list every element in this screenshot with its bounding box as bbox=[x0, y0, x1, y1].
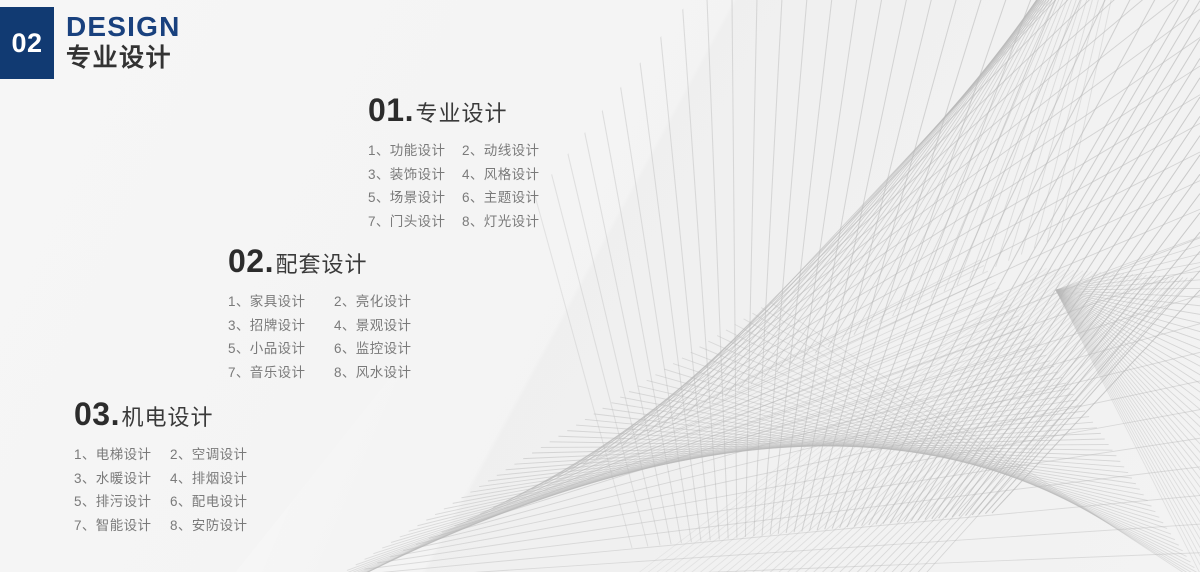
list-item: 1、家具设计 bbox=[228, 290, 334, 314]
list-item: 8、风水设计 bbox=[334, 361, 411, 385]
slide-header: 02 DESIGN 专业设计 bbox=[0, 7, 181, 79]
list-item: 4、景观设计 bbox=[334, 314, 411, 338]
list-item: 5、小品设计 bbox=[228, 337, 334, 361]
list-item: 6、监控设计 bbox=[334, 337, 411, 361]
list-item: 7、门头设计 bbox=[368, 210, 462, 234]
list-item: 5、场景设计 bbox=[368, 186, 462, 210]
list-item-row: 7、门头设计8、灯光设计 bbox=[368, 210, 539, 234]
section-03-name: 机电设计 bbox=[121, 400, 213, 432]
section-01-heading: 01 . 专业设计 bbox=[368, 92, 539, 129]
section-03-heading: 03 . 机电设计 bbox=[74, 396, 247, 433]
section-02-heading: 02 . 配套设计 bbox=[228, 243, 411, 280]
list-item: 7、音乐设计 bbox=[228, 361, 334, 385]
list-item-row: 3、装饰设计4、风格设计 bbox=[368, 163, 539, 187]
list-item: 6、配电设计 bbox=[170, 490, 247, 514]
list-item: 2、动线设计 bbox=[462, 139, 539, 163]
list-item: 4、风格设计 bbox=[462, 163, 539, 187]
section-03: 03 . 机电设计 1、电梯设计2、空调设计 3、水暖设计4、排烟设计 5、排污… bbox=[74, 396, 247, 538]
list-item: 8、安防设计 bbox=[170, 514, 247, 538]
section-03-number: 03 bbox=[74, 396, 111, 433]
list-item: 6、主题设计 bbox=[462, 186, 539, 210]
list-item: 3、招牌设计 bbox=[228, 314, 334, 338]
list-item: 3、水暖设计 bbox=[74, 467, 170, 491]
list-item: 5、排污设计 bbox=[74, 490, 170, 514]
page-title-en: DESIGN bbox=[66, 13, 181, 41]
section-01-item-list: 1、功能设计2、动线设计 3、装饰设计4、风格设计 5、场景设计6、主题设计 7… bbox=[368, 139, 539, 234]
section-02: 02 . 配套设计 1、家具设计2、亮化设计 3、招牌设计4、景观设计 5、小品… bbox=[228, 243, 411, 385]
section-badge-number: 02 bbox=[11, 28, 42, 59]
header-titles: DESIGN 专业设计 bbox=[66, 7, 181, 73]
section-03-separator: . bbox=[111, 396, 120, 433]
list-item: 3、装饰设计 bbox=[368, 163, 462, 187]
list-item-row: 1、家具设计2、亮化设计 bbox=[228, 290, 411, 314]
section-02-separator: . bbox=[265, 243, 274, 280]
section-badge: 02 bbox=[0, 7, 54, 79]
list-item: 1、功能设计 bbox=[368, 139, 462, 163]
section-01-name: 专业设计 bbox=[415, 96, 507, 128]
section-01-number: 01 bbox=[368, 92, 405, 129]
section-03-item-list: 1、电梯设计2、空调设计 3、水暖设计4、排烟设计 5、排污设计6、配电设计 7… bbox=[74, 443, 247, 538]
list-item: 2、亮化设计 bbox=[334, 290, 411, 314]
list-item: 7、智能设计 bbox=[74, 514, 170, 538]
page-title-cn: 专业设计 bbox=[66, 44, 181, 73]
section-01-separator: . bbox=[405, 92, 414, 129]
list-item-row: 3、水暖设计4、排烟设计 bbox=[74, 467, 247, 491]
section-02-name: 配套设计 bbox=[275, 247, 367, 279]
slide-canvas: 02 DESIGN 专业设计 01 . 专业设计 1、功能设计2、动线设计 3、… bbox=[0, 0, 1200, 572]
list-item: 8、灯光设计 bbox=[462, 210, 539, 234]
section-02-item-list: 1、家具设计2、亮化设计 3、招牌设计4、景观设计 5、小品设计6、监控设计 7… bbox=[228, 290, 411, 385]
list-item-row: 5、小品设计6、监控设计 bbox=[228, 337, 411, 361]
list-item-row: 5、排污设计6、配电设计 bbox=[74, 490, 247, 514]
list-item: 4、排烟设计 bbox=[170, 467, 247, 491]
list-item: 2、空调设计 bbox=[170, 443, 247, 467]
list-item-row: 1、电梯设计2、空调设计 bbox=[74, 443, 247, 467]
list-item: 1、电梯设计 bbox=[74, 443, 170, 467]
section-01: 01 . 专业设计 1、功能设计2、动线设计 3、装饰设计4、风格设计 5、场景… bbox=[368, 92, 539, 234]
list-item-row: 7、音乐设计8、风水设计 bbox=[228, 361, 411, 385]
list-item-row: 7、智能设计8、安防设计 bbox=[74, 514, 247, 538]
section-02-number: 02 bbox=[228, 243, 265, 280]
list-item-row: 5、场景设计6、主题设计 bbox=[368, 186, 539, 210]
list-item-row: 3、招牌设计4、景观设计 bbox=[228, 314, 411, 338]
list-item-row: 1、功能设计2、动线设计 bbox=[368, 139, 539, 163]
